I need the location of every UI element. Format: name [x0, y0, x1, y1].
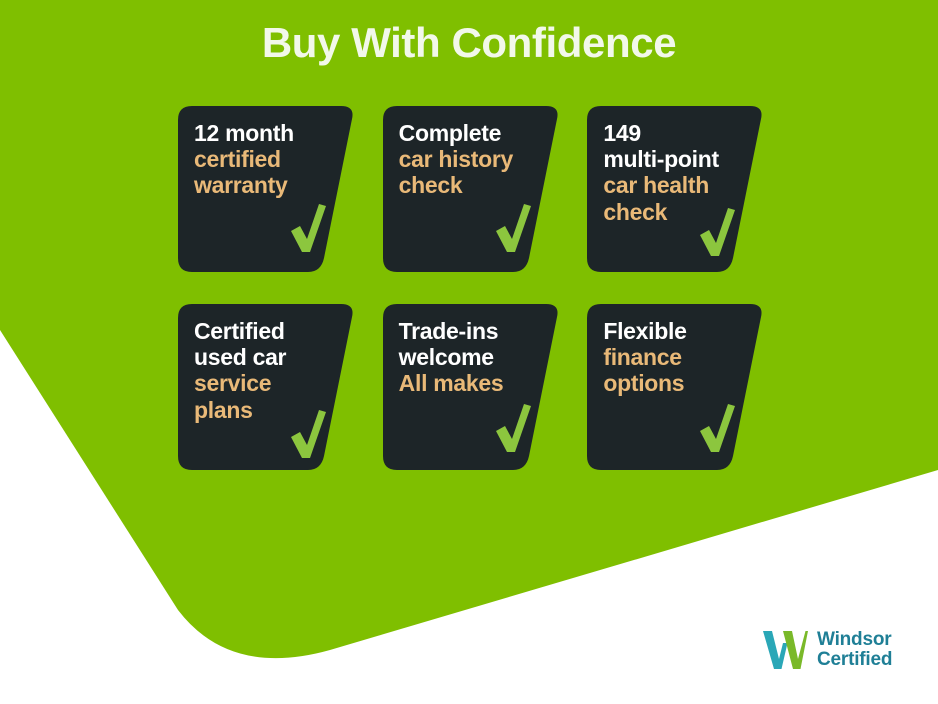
windsor-certified-logo[interactable]: Windsor Certified [762, 628, 892, 672]
card-line: Certified [194, 318, 337, 344]
check-icon [697, 402, 737, 454]
card-line: warranty [194, 172, 337, 198]
card-text: Trade-ins welcome All makes [399, 318, 542, 397]
card-line: All makes [399, 370, 542, 396]
card-line: service [194, 370, 337, 396]
benefit-card-flexible-finance[interactable]: Flexible finance options [587, 304, 764, 470]
card-line: finance [603, 344, 746, 370]
check-icon [493, 202, 533, 254]
card-line: 149 [603, 120, 746, 146]
check-icon [288, 202, 328, 254]
card-line: used car [194, 344, 337, 370]
card-line: Trade-ins [399, 318, 542, 344]
card-line: welcome [399, 344, 542, 370]
benefit-card-grid: 12 month certified warranty [178, 106, 764, 502]
check-icon [697, 206, 737, 258]
benefit-row-top: 12 month certified warranty [178, 106, 764, 272]
card-line: car history [399, 146, 542, 172]
card-line: 12 month [194, 120, 337, 146]
page-title: Buy With Confidence [0, 18, 938, 68]
windsor-w-mark-icon [762, 628, 808, 672]
card-line: check [399, 172, 542, 198]
card-line: Complete [399, 120, 542, 146]
logo-line-certified: Certified [817, 650, 892, 670]
card-line: certified [194, 146, 337, 172]
benefit-card-service-plans[interactable]: Certified used car service plans [178, 304, 355, 470]
benefit-card-car-history-check[interactable]: Complete car history check [383, 106, 560, 272]
card-text: Complete car history check [399, 120, 542, 199]
check-icon [288, 408, 328, 460]
card-line: car health [603, 172, 746, 198]
poster-canvas: Buy With Confidence 12 month certified w… [0, 0, 938, 704]
card-text: Flexible finance options [603, 318, 746, 397]
logo-wordmark: Windsor Certified [817, 630, 892, 670]
card-line: options [603, 370, 746, 396]
benefit-row-bottom: Certified used car service plans [178, 304, 764, 470]
card-line: Flexible [603, 318, 746, 344]
benefit-card-multi-point-health-check[interactable]: 149 multi-point car health check [587, 106, 764, 272]
card-text: 12 month certified warranty [194, 120, 337, 199]
logo-line-windsor: Windsor [817, 630, 892, 650]
card-line: multi-point [603, 146, 746, 172]
benefit-card-trade-ins[interactable]: Trade-ins welcome All makes [383, 304, 560, 470]
benefit-card-certified-warranty[interactable]: 12 month certified warranty [178, 106, 355, 272]
check-icon [493, 402, 533, 454]
